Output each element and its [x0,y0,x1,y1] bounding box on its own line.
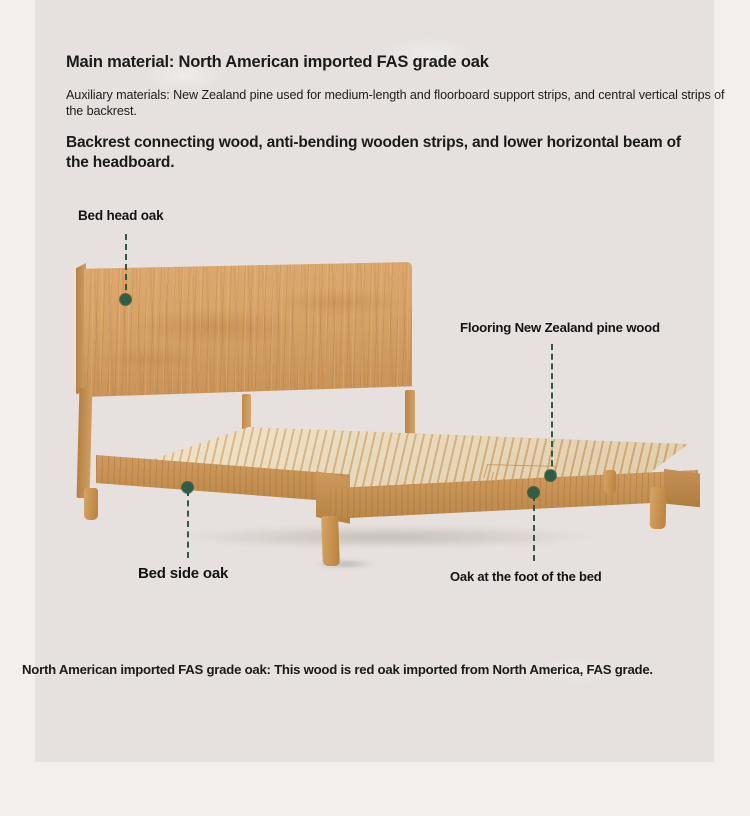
auxiliary-materials-paragraph: Auxiliary materials: New Zealand pine us… [66,87,728,120]
annotation-label-bed-head-oak: Bed head oak [78,208,163,223]
bed-floor-shadow [96,520,676,554]
annotation-leader-bed-side-oak [187,490,189,558]
backrest-note-heading: Backrest connecting wood, anti-bending w… [66,133,686,173]
headboard-post-left [77,388,93,498]
annotation-marker-foot-oak [528,487,539,498]
foot-rail-end-cap [664,466,700,514]
center-support-bracket-leg [491,472,516,480]
bed-leg-shadow [300,556,390,572]
bed-leg-back-right [604,470,616,494]
annotation-leader-foot-oak [533,495,535,561]
product-detail-infographic: Main material: North American imported F… [0,0,750,816]
headboard-panel [84,262,412,397]
annotation-marker-bed-head-oak [120,294,131,305]
annotation-leader-bed-head-oak [125,234,127,300]
annotation-marker-bed-side-oak [182,482,193,493]
annotation-label-bed-side-oak: Bed side oak [138,565,228,582]
annotation-label-foot-oak: Oak at the foot of the bed [450,569,602,584]
bed-leg-front-left [321,516,340,566]
annotation-leader-flooring-pine [551,344,553,476]
materials-text-block: Main material: North American imported F… [66,52,726,173]
bottom-caption: North American imported FAS grade oak: T… [22,662,653,677]
annotation-marker-flooring-pine [545,470,556,481]
bed-leg-back-left [84,488,98,520]
bed-leg-front-right [650,487,667,529]
annotation-label-flooring-pine: Flooring New Zealand pine wood [460,320,660,335]
main-material-heading: Main material: North American imported F… [66,52,726,73]
